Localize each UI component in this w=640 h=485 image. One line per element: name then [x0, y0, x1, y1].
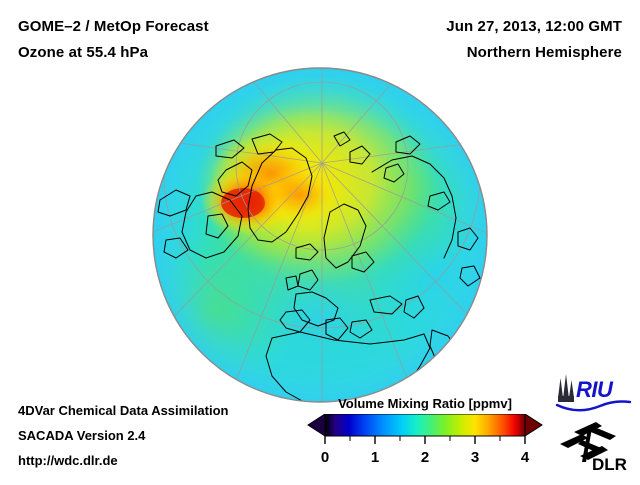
riu-wordmark: RIU	[576, 377, 614, 402]
colorbar-max-arrow	[525, 414, 542, 436]
logo-group: RIU DLR	[552, 372, 638, 476]
colorbar-gradient	[325, 414, 525, 436]
footer-line-version: SACADA Version 2.4	[18, 428, 145, 443]
riu-spires-icon	[558, 374, 574, 402]
ozone-field	[125, 68, 535, 430]
footer-line-method: 4DVar Chemical Data Assimilation	[18, 403, 229, 418]
colorbar-title: Volume Mixing Ratio [ppmv]	[300, 396, 550, 411]
logos-svg: RIU DLR	[552, 372, 638, 476]
colorbar-ticks	[325, 436, 525, 444]
riu-wave-icon	[557, 402, 630, 411]
colorbar-tick-2: 2	[421, 449, 429, 466]
colorbar-tick-0: 0	[321, 449, 329, 466]
colorbar: Volume Mixing Ratio [ppmv]	[300, 396, 550, 480]
colorbar-tick-labels: 0 1 2 3 4	[321, 449, 530, 466]
colorbar-tick-3: 3	[471, 449, 479, 466]
colorbar-tick-1: 1	[371, 449, 379, 466]
dlr-logo: DLR	[560, 422, 627, 474]
colorbar-svg: 0 1 2 3 4	[300, 414, 550, 478]
riu-logo: RIU	[557, 374, 630, 410]
dlr-wordmark: DLR	[592, 455, 627, 474]
colorbar-tick-4: 4	[521, 449, 530, 466]
footer-line-url[interactable]: http://wdc.dlr.de	[18, 453, 118, 468]
colorbar-min-arrow	[308, 414, 325, 436]
